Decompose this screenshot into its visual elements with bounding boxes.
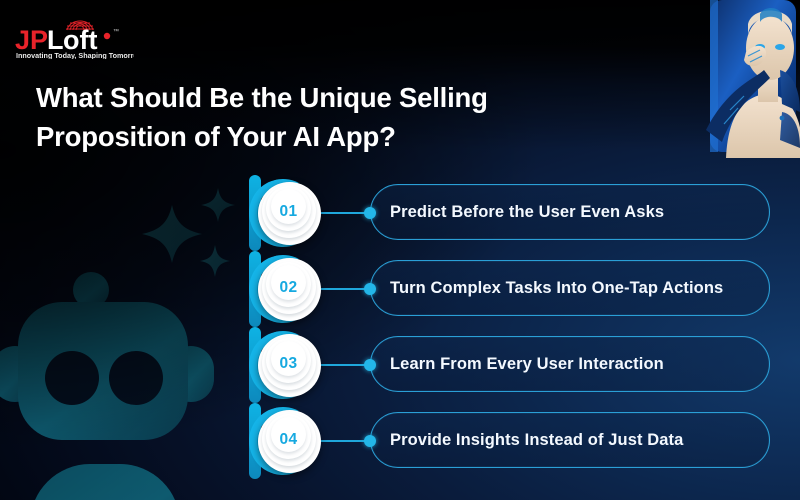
step-number: 04 [279, 431, 297, 449]
connector-line [318, 364, 370, 366]
ai-humanoid-robot-image [690, 0, 800, 158]
step-number-badge: 03 [258, 334, 321, 397]
headline-line-1: What Should Be the Unique Selling [36, 82, 488, 113]
infographic-canvas: JP L oft ™ Innovating Today, Shaping Tom… [0, 0, 800, 500]
connector-line [318, 288, 370, 290]
page-title: What Should Be the Unique Selling Propos… [36, 78, 596, 156]
step-number-badge: 02 [258, 258, 321, 321]
headline-line-2: Proposition of Your AI App? [36, 117, 596, 156]
jploft-logo: JP L oft ™ Innovating Today, Shaping Tom… [14, 17, 134, 59]
step-number-badge: 01 [258, 182, 321, 245]
step-number: 03 [279, 355, 297, 373]
svg-text:™: ™ [113, 28, 119, 35]
connector-dot-icon [364, 207, 376, 219]
usp-pill[interactable]: Learn From Every User Interaction [370, 336, 770, 392]
connector-dot-icon [364, 359, 376, 371]
usp-label: Provide Insights Instead of Just Data [390, 431, 683, 450]
list-item[interactable]: 04 Provide Insights Instead of Just Data [0, 403, 800, 479]
usp-label: Turn Complex Tasks Into One-Tap Actions [390, 279, 723, 298]
connector-dot-icon [364, 435, 376, 447]
usp-label: Learn From Every User Interaction [390, 355, 664, 374]
usp-pill[interactable]: Provide Insights Instead of Just Data [370, 412, 770, 468]
list-item[interactable]: 01 Predict Before the User Even Asks [0, 175, 800, 251]
usp-list: 01 Predict Before the User Even Asks 02 … [0, 175, 800, 479]
usp-label: Predict Before the User Even Asks [390, 203, 664, 222]
connector-line [318, 440, 370, 442]
usp-pill[interactable]: Predict Before the User Even Asks [370, 184, 770, 240]
list-item[interactable]: 03 Learn From Every User Interaction [0, 327, 800, 403]
step-number: 02 [279, 279, 297, 297]
svg-text:Innovating Today, Shaping Tomo: Innovating Today, Shaping Tomorrow [16, 51, 134, 59]
step-number-badge: 04 [258, 410, 321, 473]
usp-pill[interactable]: Turn Complex Tasks Into One-Tap Actions [370, 260, 770, 316]
list-item[interactable]: 02 Turn Complex Tasks Into One-Tap Actio… [0, 251, 800, 327]
step-number: 01 [279, 203, 297, 221]
connector-dot-icon [364, 283, 376, 295]
connector-line [318, 212, 370, 214]
